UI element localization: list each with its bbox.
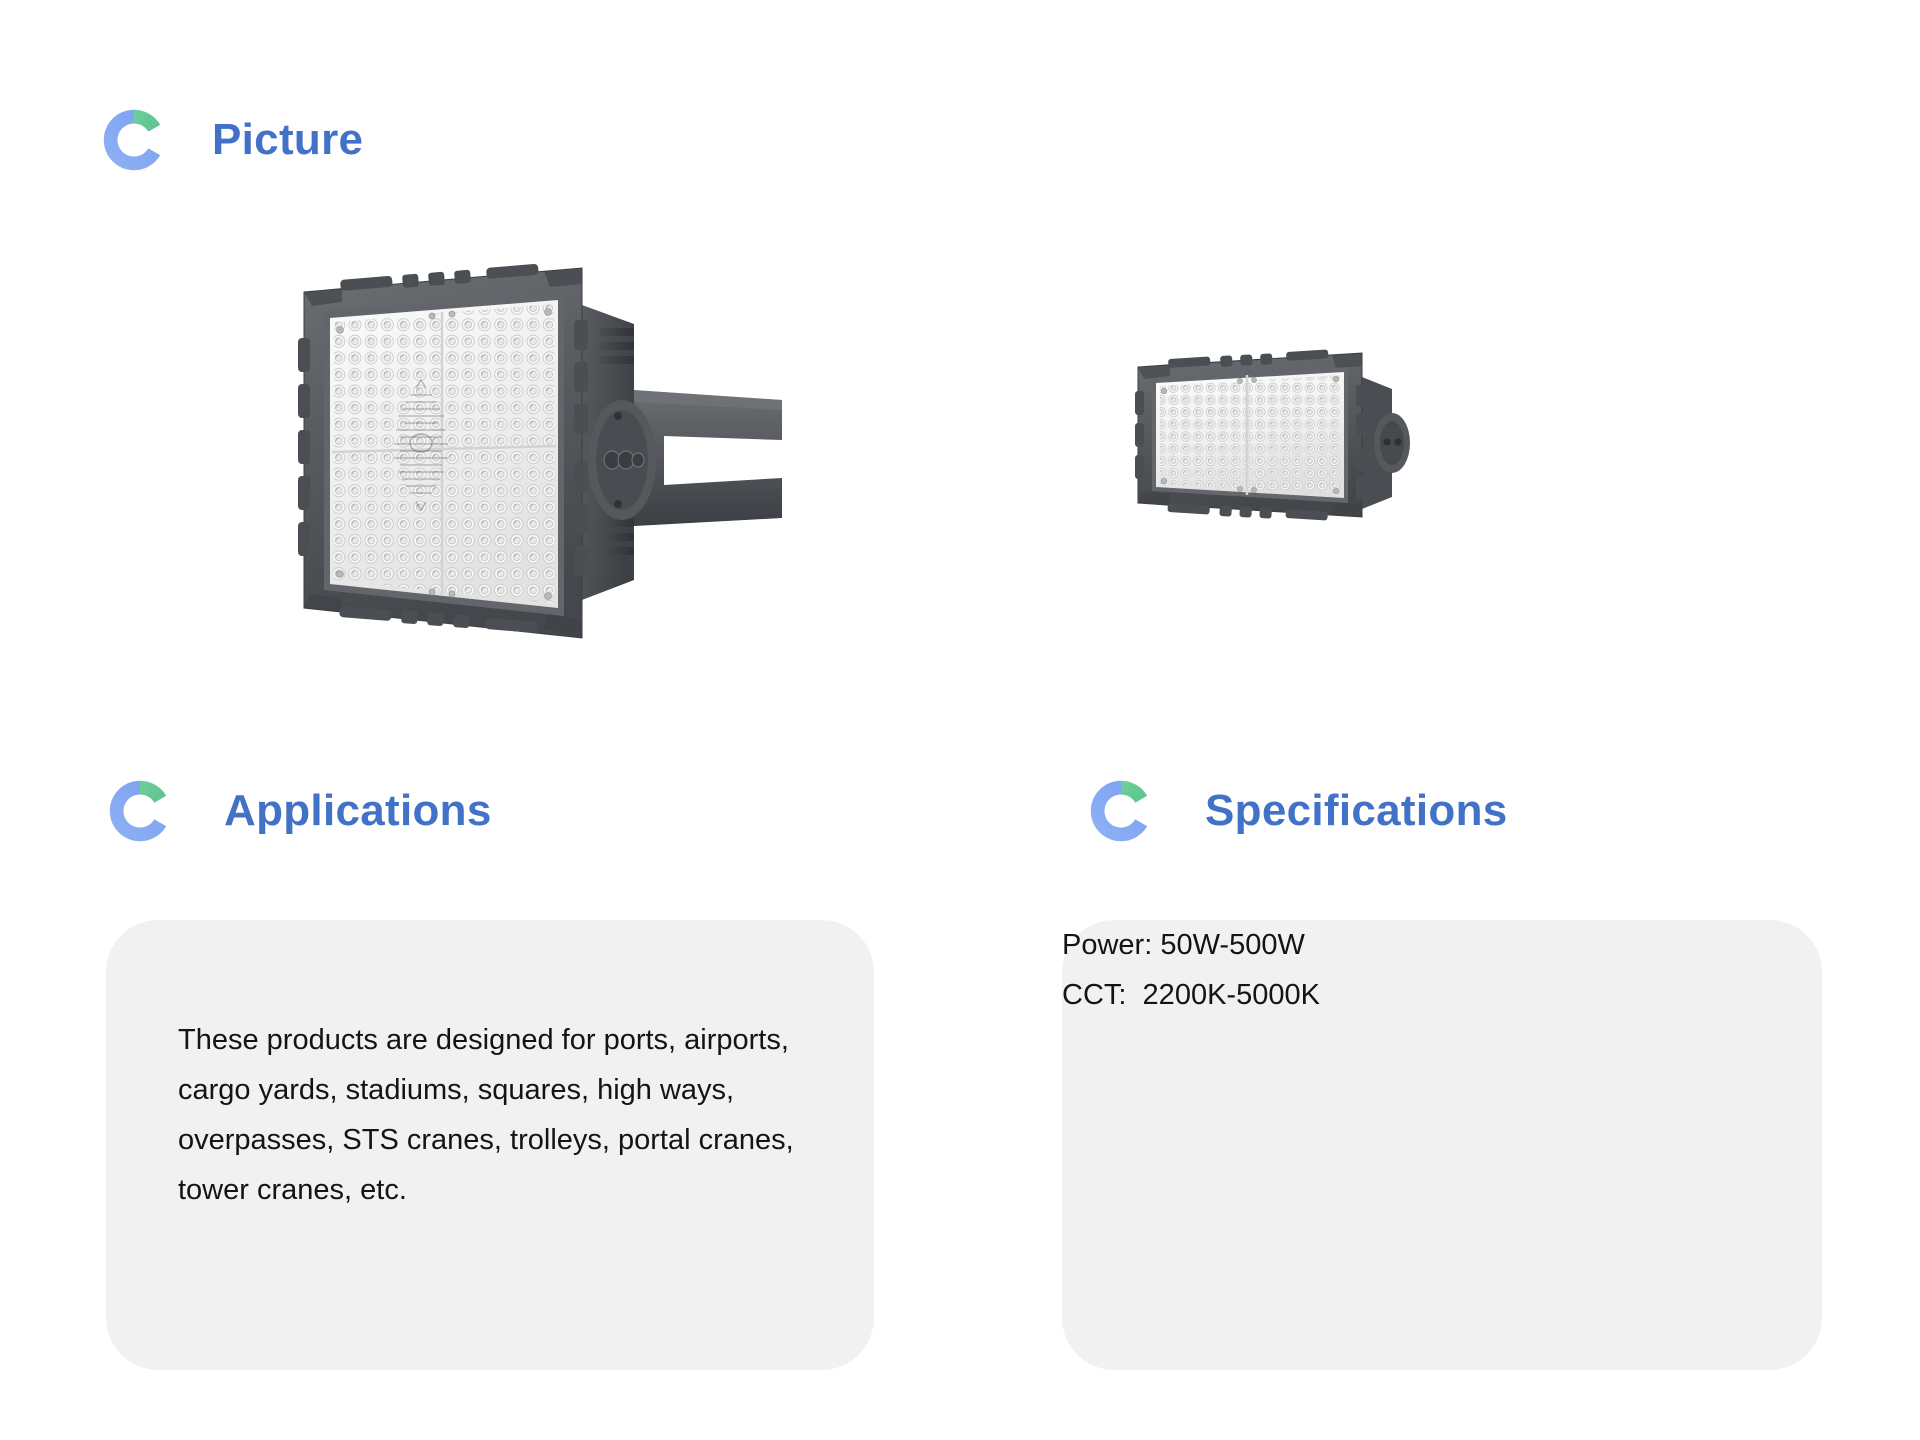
section-heading-specifications: Specifications	[1085, 775, 1508, 847]
c-ring-logo-icon	[1085, 775, 1157, 847]
section-heading-applications: Applications	[104, 775, 492, 847]
specifications-list: Power: 50W-500W CCT: 2200K-5000K	[1062, 920, 1822, 1020]
specifications-card: Power: 50W-500W CCT: 2200K-5000K	[1062, 920, 1822, 1370]
spec-item-power: Power: 50W-500W	[1062, 920, 1822, 970]
applications-card: These products are designed for ports, a…	[106, 920, 874, 1370]
large-led-flood-light-image	[282, 250, 812, 650]
section-title-specifications: Specifications	[1205, 789, 1508, 833]
applications-body-text: These products are designed for ports, a…	[178, 1015, 818, 1215]
section-heading-picture: Picture	[98, 104, 363, 176]
product-image-area	[0, 210, 1920, 730]
section-title-picture: Picture	[212, 118, 363, 162]
spec-item-cct: CCT: 2200K-5000K	[1062, 970, 1822, 1020]
c-ring-logo-icon	[98, 104, 170, 176]
c-ring-logo-icon	[104, 775, 176, 847]
section-title-applications: Applications	[224, 789, 492, 833]
small-led-flood-light-image	[1130, 345, 1480, 525]
